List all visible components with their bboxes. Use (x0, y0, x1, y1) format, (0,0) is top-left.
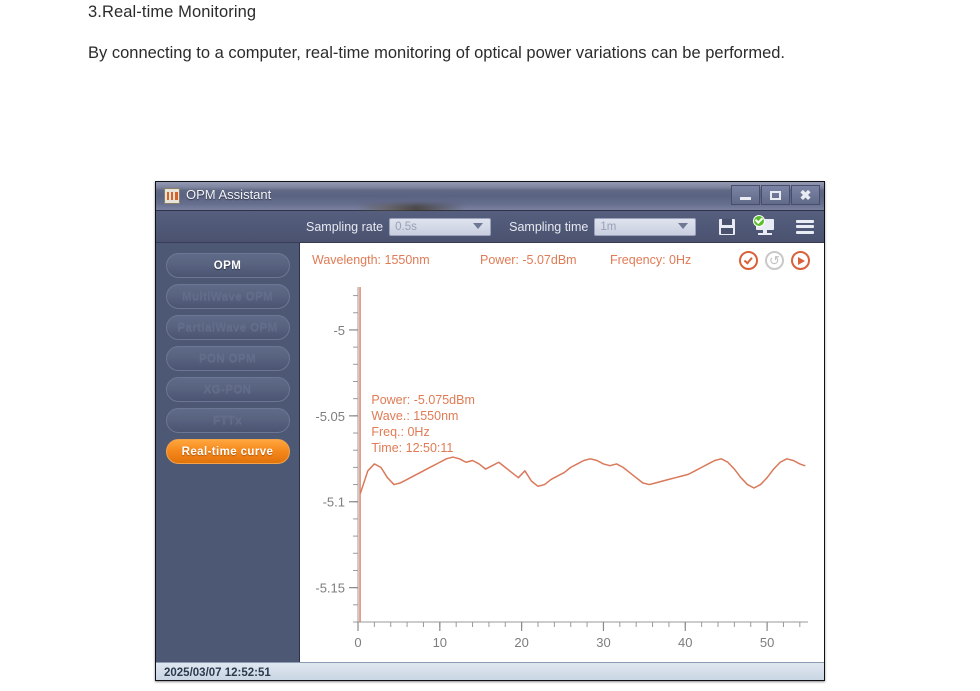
opm-assistant-window: OPM Assistant ✖ Sampling rate 0.5s Sampl… (155, 181, 825, 681)
save-icon (719, 219, 735, 235)
monitor-connected-icon (756, 219, 774, 235)
sidebar-item-multiwave-opm[interactable]: MultiWave OPM (166, 284, 290, 309)
sampling-rate-select[interactable]: 0.5s (389, 218, 491, 236)
sidebar-item-opm[interactable]: OPM (166, 253, 290, 278)
document-paragraph: By connecting to a computer, real-time m… (88, 41, 903, 66)
connect-button[interactable] (752, 214, 778, 240)
sampling-rate-label: Sampling rate (306, 220, 383, 234)
maximize-button[interactable] (761, 185, 790, 205)
readout-bar: Wavelength: 1550nm Power: -5.07dBm Freqe… (312, 253, 814, 273)
wavelength-readout: Wavelength: 1550nm (312, 253, 430, 267)
minimize-icon (740, 197, 751, 200)
x-tick-label: 40 (678, 635, 692, 650)
x-tick-label: 10 (433, 635, 447, 650)
toolbar: Sampling rate 0.5s Sampling time 1m (156, 211, 824, 243)
window-controls: ✖ (731, 185, 820, 205)
sampling-time-label: Sampling time (509, 220, 588, 234)
hamburger-menu-icon (796, 220, 814, 234)
status-datetime: 2025/03/07 12:52:51 (156, 667, 271, 679)
x-tick-label: 30 (596, 635, 610, 650)
y-tick-label: -5 (333, 323, 345, 338)
sidebar-item-fttx[interactable]: FTTx (166, 408, 290, 433)
y-tick-label: -5.15 (315, 581, 345, 596)
readout-actions (739, 251, 810, 270)
close-button[interactable]: ✖ (791, 185, 820, 205)
status-bar: 2025/03/07 12:52:51 (156, 662, 824, 681)
confirm-icon[interactable] (739, 251, 758, 270)
x-tick-label: 50 (760, 635, 774, 650)
window-title: OPM Assistant (186, 187, 271, 202)
sampling-rate-value: 0.5s (390, 221, 417, 233)
app-chart-icon (164, 188, 180, 204)
x-tick-label: 20 (514, 635, 528, 650)
sidebar-item-pon-opm[interactable]: PON OPM (166, 346, 290, 371)
window-titlebar[interactable]: OPM Assistant ✖ (156, 182, 824, 211)
chevron-down-icon (678, 223, 688, 229)
save-button[interactable] (714, 214, 740, 240)
maximize-icon (770, 191, 781, 200)
sidebar-item-real-time-curve[interactable]: Real-time curve (166, 439, 290, 464)
y-tick-label: -5.1 (323, 495, 345, 510)
sampling-time-select[interactable]: 1m (594, 218, 696, 236)
power-readout: Power: -5.07dBm (480, 253, 577, 267)
x-tick-label: 0 (354, 635, 361, 650)
annotation-line: Freq.: 0Hz (371, 425, 429, 439)
annotation-line: Power: -5.075dBm (371, 393, 475, 407)
chevron-down-icon (473, 223, 483, 229)
undo-icon[interactable] (765, 251, 784, 270)
annotation-line: Wave.: 1550nm (371, 409, 458, 423)
sidebar: OPM MultiWave OPM PartialWave OPM PON OP… (156, 243, 300, 662)
sampling-time-value: 1m (595, 221, 616, 233)
sidebar-item-xg-pon[interactable]: XG-PON (166, 377, 290, 402)
y-tick-label: -5.05 (315, 409, 345, 424)
realtime-chart-svg[interactable]: -5-5.05-5.1-5.1501020304050Power: -5.075… (300, 277, 825, 662)
document-heading: 3.Real-time Monitoring (88, 3, 256, 22)
sidebar-item-partialwave-opm[interactable]: PartialWave OPM (166, 315, 290, 340)
play-icon[interactable] (791, 251, 810, 270)
menu-button[interactable] (792, 214, 818, 240)
close-icon: ✖ (800, 188, 812, 202)
minimize-button[interactable] (731, 185, 760, 205)
page-root: 3.Real-time Monitoring By connecting to … (0, 0, 980, 691)
content-panel: Wavelength: 1550nm Power: -5.07dBm Freqe… (300, 243, 824, 662)
realtime-chart[interactable]: -5-5.05-5.1-5.1501020304050Power: -5.075… (300, 277, 824, 662)
frequency-readout: Freqency: 0Hz (610, 253, 691, 267)
window-body: OPM MultiWave OPM PartialWave OPM PON OP… (156, 243, 824, 662)
annotation-line: Time: 12:50:11 (371, 441, 453, 455)
